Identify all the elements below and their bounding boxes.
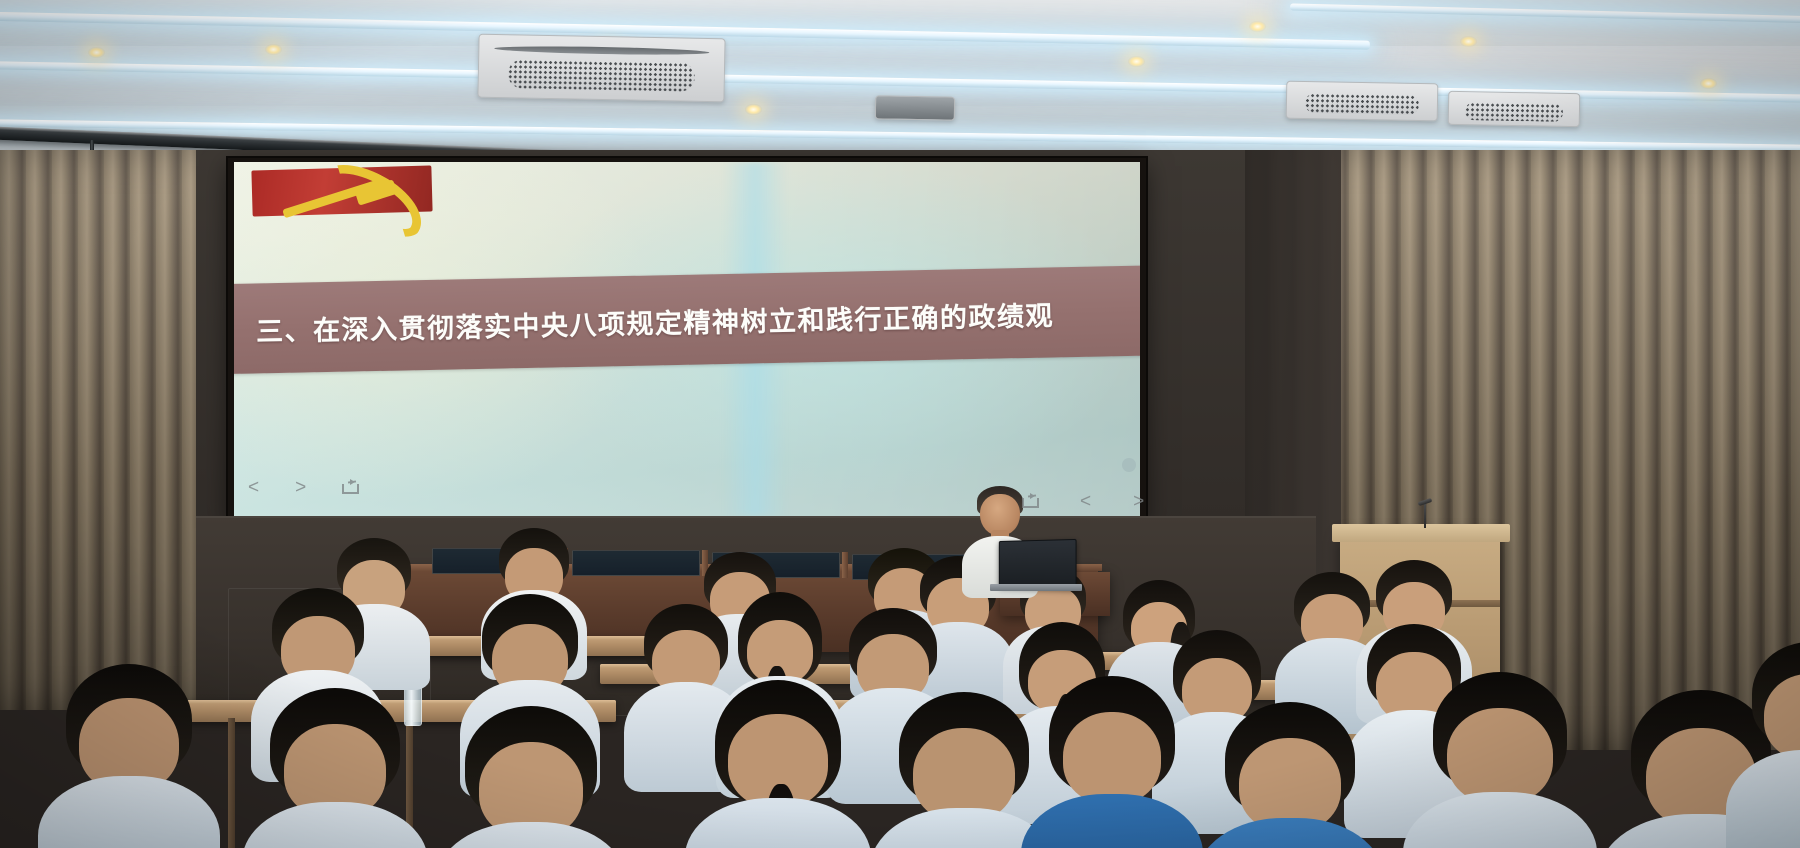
prev-slide-button[interactable]: < (1080, 492, 1091, 511)
recessed-downlight (88, 47, 105, 58)
recessed-downlight (745, 104, 762, 115)
audience-member (1212, 702, 1368, 848)
recessed-downlight (265, 44, 282, 55)
next-slide-button[interactable]: > (1133, 492, 1144, 511)
ceiling-ac-vent (1286, 81, 1439, 122)
ceiling-projector-mount (875, 95, 955, 120)
slide-page-indicator (1122, 458, 1136, 472)
ceiling-ac-vent (477, 34, 725, 103)
share-export-icon[interactable] (342, 481, 358, 494)
audience-member (452, 706, 610, 848)
projection-screen: 三、在深入贯彻落实中央八项规定精神树立和践行正确的政绩观 < > (234, 162, 1140, 516)
next-slide-button[interactable]: > (295, 478, 306, 497)
slide-nav-controls-right[interactable]: < > (1022, 492, 1144, 511)
ceiling-ac-vent (1448, 91, 1581, 127)
podium-top-surface (1332, 524, 1510, 542)
podium-microphone-stem (1424, 504, 1426, 528)
recessed-downlight (1249, 21, 1266, 32)
dais-divider (842, 552, 848, 578)
prev-slide-button[interactable]: < (248, 478, 259, 497)
audience-member (698, 680, 858, 848)
audience-member (1036, 676, 1188, 848)
audience-member (258, 688, 412, 848)
presenter-laptop (999, 539, 1077, 589)
slide-nav-controls-left[interactable]: < > (248, 478, 358, 497)
presenter-laptop-base (990, 584, 1082, 591)
hammer-and-sickle-emblem (251, 165, 432, 216)
dais-name-plate-slot (572, 550, 700, 576)
photo-scene: 三、在深入贯彻落实中央八项规定精神树立和践行正确的政绩观 < > < > (0, 0, 1800, 848)
audience-member (1740, 642, 1800, 848)
share-export-icon[interactable] (1022, 495, 1038, 508)
recessed-downlight (1700, 78, 1717, 89)
audience-member (886, 692, 1042, 848)
desk-leg (228, 718, 235, 848)
audience-member (54, 664, 204, 848)
audience-member (1420, 672, 1580, 848)
recessed-downlight (1460, 36, 1477, 47)
recessed-downlight (1128, 56, 1145, 67)
